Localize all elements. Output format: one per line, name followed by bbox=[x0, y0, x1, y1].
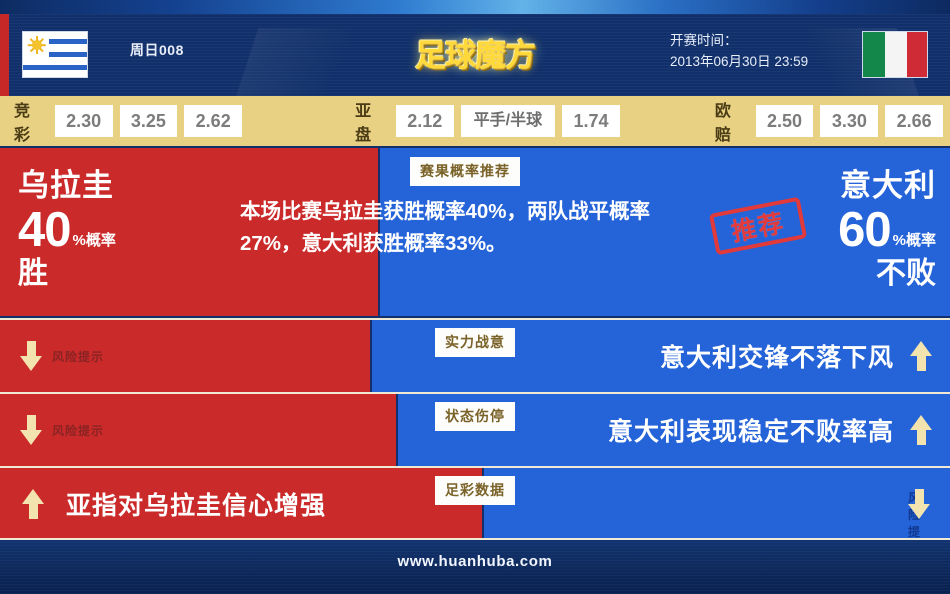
odds-group-label: 竞彩 bbox=[14, 97, 47, 145]
home-stats: 乌拉圭 40 %概率 胜 bbox=[18, 168, 116, 291]
down-arrow-icon bbox=[20, 341, 42, 371]
match-number: 周日008 bbox=[130, 40, 184, 60]
site-logo-text: 足球魔方 bbox=[415, 30, 535, 75]
row-left-message: 亚指对乌拉圭信心增强 bbox=[66, 486, 326, 522]
odds-value[interactable]: 2.66 bbox=[885, 105, 943, 137]
top-gradient-strip bbox=[0, 0, 950, 14]
down-arrow-icon bbox=[20, 415, 42, 445]
up-arrow-icon bbox=[910, 415, 932, 445]
kickoff-label: 开赛时间： bbox=[670, 30, 808, 51]
odds-group-label: 欧赔 bbox=[715, 97, 748, 145]
row-left-risk: 风险提示 bbox=[20, 415, 104, 445]
odds-value[interactable]: 3.30 bbox=[820, 105, 878, 137]
away-probability-unit: %概率 bbox=[893, 233, 936, 248]
odds-bar: 竞彩 2.30 3.25 2.62 亚盘 2.12 平手/半球 1.74 欧赔 … bbox=[0, 96, 950, 146]
odds-value[interactable]: 2.30 bbox=[55, 105, 113, 137]
down-arrow-icon bbox=[908, 489, 930, 519]
away-stats: 意大利 60 %概率 不败 bbox=[838, 168, 936, 291]
uruguay-flag-icon bbox=[22, 31, 88, 78]
header-diagonal-highlight-left bbox=[232, 28, 389, 96]
odds-handicap-value[interactable]: 平手/半球 bbox=[461, 105, 555, 137]
home-probability-unit: %概率 bbox=[73, 233, 116, 248]
odds-value[interactable]: 2.62 bbox=[184, 105, 242, 137]
row-right-risk: 风险提示 bbox=[908, 489, 930, 519]
header-red-edge bbox=[0, 14, 9, 96]
risk-label: 风险提示 bbox=[52, 348, 104, 365]
row-blue-half bbox=[484, 468, 950, 540]
kickoff-value: 2013年06月30日 23:59 bbox=[670, 51, 808, 72]
odds-value[interactable]: 2.50 bbox=[756, 105, 814, 137]
home-probability-value: 40 bbox=[18, 206, 71, 255]
site-logo: 足球魔方 bbox=[404, 28, 546, 76]
risk-label: 风险提示 bbox=[52, 422, 104, 439]
odds-value[interactable]: 2.12 bbox=[396, 105, 454, 137]
odds-group-oupei: 欧赔 2.50 3.30 2.66 bbox=[715, 97, 950, 145]
odds-group-label: 亚盘 bbox=[355, 97, 388, 145]
infographic-page: 周日008 足球魔方 开赛时间： 2013年06月30日 23:59 竞彩 2.… bbox=[0, 0, 950, 594]
row-right-message: 意大利表现稳定不败率高 bbox=[608, 412, 894, 448]
tab-result-probability[interactable]: 赛果概率推荐 bbox=[410, 157, 520, 186]
probability-summary-text: 本场比赛乌拉圭获胜概率40%，两队战平概率27%，意大利获胜概率33%。 bbox=[240, 196, 680, 260]
odds-value[interactable]: 3.25 bbox=[120, 105, 178, 137]
odds-value[interactable]: 1.74 bbox=[562, 105, 620, 137]
away-team-name: 意大利 bbox=[838, 168, 936, 204]
home-team-name: 乌拉圭 bbox=[18, 168, 116, 204]
footer-url[interactable]: www.huanhuba.com bbox=[0, 553, 950, 570]
kickoff-time-block: 开赛时间： 2013年06月30日 23:59 bbox=[670, 30, 808, 72]
odds-group-jingcai: 竞彩 2.30 3.25 2.62 bbox=[14, 97, 249, 145]
italy-flag-icon bbox=[862, 31, 928, 78]
up-arrow-icon bbox=[910, 341, 932, 371]
away-outcome-label: 不败 bbox=[838, 257, 936, 291]
home-outcome-label: 胜 bbox=[18, 257, 116, 291]
up-arrow-icon bbox=[22, 489, 44, 519]
uruguay-sun-icon bbox=[28, 36, 46, 54]
tab-form-injury[interactable]: 状态伤停 bbox=[435, 402, 515, 431]
odds-group-yapan: 亚盘 2.12 平手/半球 1.74 bbox=[355, 97, 627, 145]
row-left-risk: 风险提示 bbox=[20, 341, 104, 371]
away-probability-value: 60 bbox=[838, 206, 891, 255]
footer-bar: www.huanhuba.com bbox=[0, 540, 950, 594]
row-right-message: 意大利交锋不落下风 bbox=[660, 338, 894, 374]
tab-strength-intent[interactable]: 实力战意 bbox=[435, 328, 515, 357]
tab-lottery-data[interactable]: 足彩数据 bbox=[435, 476, 515, 505]
